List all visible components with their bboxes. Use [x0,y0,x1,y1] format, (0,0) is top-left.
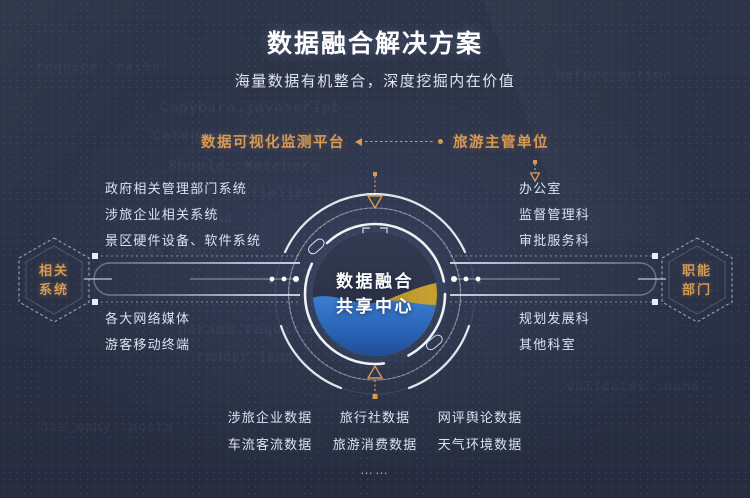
bottom-data-grid: 涉旅企业数据 旅行社数据 网评舆论数据 车流客流数据 旅游消费数据 天气环境数据… [0,404,750,477]
marker-top-triangle-icon [366,172,384,214]
list-item[interactable]: 涉旅企业相关系统 [105,202,261,228]
center-label: 数据融合 共享中心 [313,232,437,356]
left-bottom-list: 各大网络媒体 游客移动终端 [105,306,190,358]
list-item[interactable]: 政府相关管理部门系统 [105,176,261,202]
data-cell[interactable]: 网评舆论数据 [428,404,533,431]
right-top-list: 办公室 监督管理科 审批服务科 [519,176,590,254]
marker-bottom-triangle-icon [366,354,384,402]
hexagon-right-line1: 职能 [682,261,712,280]
data-fusion-center[interactable]: 数据融合 共享中心 [313,232,437,356]
hexagon-related-systems[interactable]: 相关 系统 [14,235,94,325]
list-item[interactable]: 其他科室 [519,332,590,358]
page-subtitle: 海量数据有机整合，深度挖掘内在价值 [0,70,750,91]
hexagon-functional-departments[interactable]: 职能 部门 [657,235,737,325]
list-item[interactable]: 办公室 [519,176,590,202]
page-title: 数据融合解决方案 [0,24,750,60]
hexagon-left-line1: 相关 [39,261,69,280]
top-label-row: 数据可视化监测平台 旅游主管单位 [0,131,750,152]
data-grid-ellipsis: …… [360,462,390,477]
data-cell[interactable]: 天气环境数据 [428,431,533,458]
data-cell[interactable]: 涉旅企业数据 [218,404,323,431]
background-code-line: Should::Matchers [168,158,320,175]
hexagon-right-label: 职能 部门 [657,235,737,325]
right-bottom-list: 规划发展科 其他科室 [519,306,590,358]
dotted-arrow-icon [355,136,443,148]
data-cell[interactable]: 旅行社数据 [323,404,428,431]
dot-terminal-icon [438,139,443,144]
list-item[interactable]: 规划发展科 [519,306,590,332]
list-item[interactable]: 游客移动终端 [105,332,190,358]
background-code-line: Capybara.javascript [160,100,341,117]
hexagon-left-label: 相关 系统 [14,235,94,325]
left-top-list: 政府相关管理部门系统 涉旅企业相关系统 景区硬件设备、软件系统 [105,176,261,254]
background-code-line: validates :name [566,380,700,396]
label-visualization-platform[interactable]: 数据可视化监测平台 [201,131,345,152]
data-grid-row: 涉旅企业数据 旅行社数据 网评舆论数据 [218,404,533,431]
label-tourism-authority[interactable]: 旅游主管单位 [453,131,549,152]
center-line2: 共享中心 [336,294,414,319]
data-cell[interactable]: 车流客流数据 [218,431,323,458]
data-grid-row: 车流客流数据 旅游消费数据 天气环境数据 [218,431,533,458]
hexagon-left-line2: 系统 [39,280,69,299]
list-item[interactable]: 监督管理科 [519,202,590,228]
center-sphere: 数据融合 共享中心 [313,232,437,356]
infographic-canvas: Capybara.javascript Category.delete_all … [0,0,750,498]
center-line1: 数据融合 [336,269,414,294]
arrow-head-left-icon [355,138,362,146]
hexagon-right-line2: 部门 [682,280,712,299]
list-item[interactable]: 各大网络媒体 [105,306,190,332]
list-item[interactable]: 审批服务科 [519,228,590,254]
list-item[interactable]: 景区硬件设备、软件系统 [105,228,261,254]
dotted-line [365,141,435,142]
data-cell[interactable]: 旅游消费数据 [323,431,428,458]
